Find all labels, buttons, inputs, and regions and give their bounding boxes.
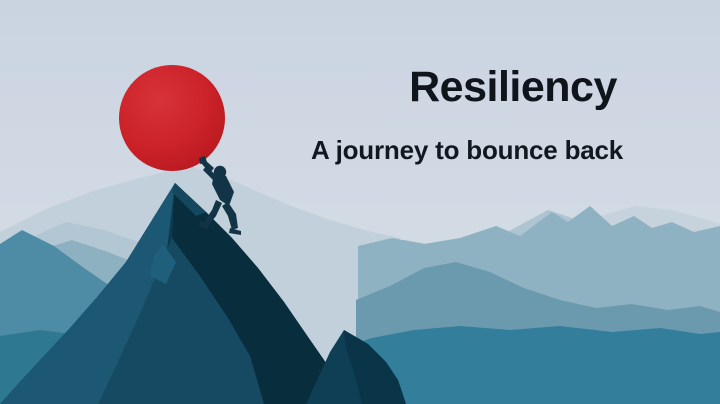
- illustration-banner: Resiliency A journey to bounce back: [0, 0, 720, 404]
- boulder-circle: [119, 65, 225, 171]
- scene-illustration: [0, 0, 720, 404]
